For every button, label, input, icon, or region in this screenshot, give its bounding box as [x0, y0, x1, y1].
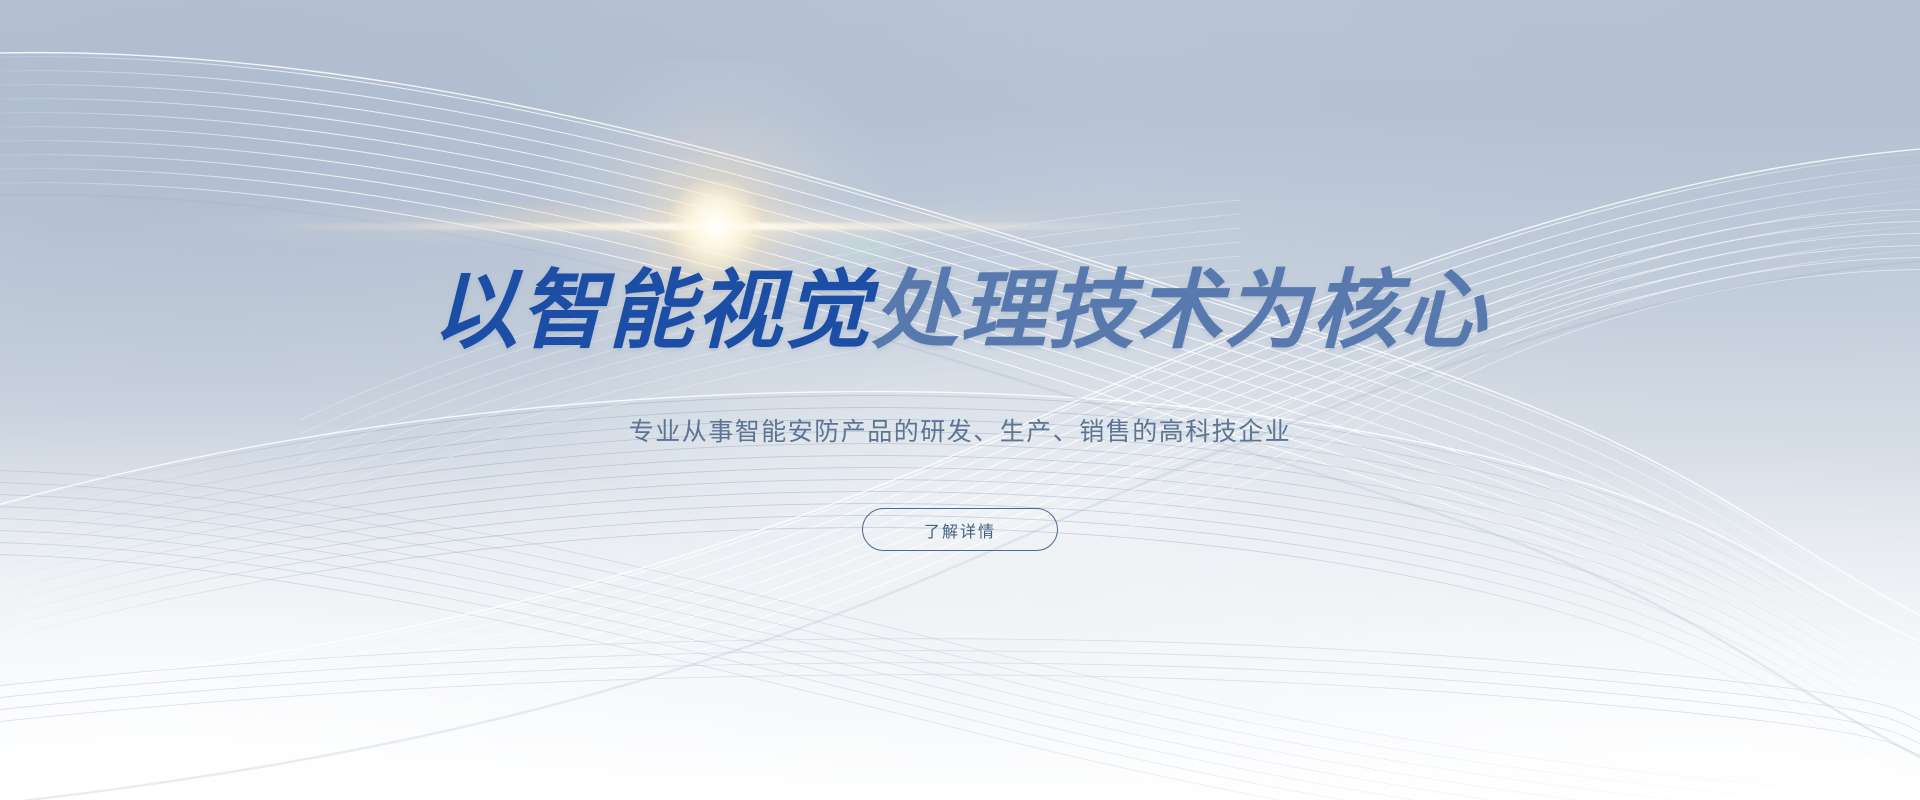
- page-subtitle: 专业从事智能安防产品的研发、生产、销售的高科技企业: [629, 412, 1292, 448]
- hero-banner: 以智能视觉处理技术为核心 专业从事智能安防产品的研发、生产、销售的高科技企业 了…: [0, 0, 1920, 800]
- page-title: 以智能视觉处理技术为核心: [432, 268, 1488, 356]
- headline-segment-secondary: 处理技术为核心: [872, 261, 1488, 361]
- headline-segment-primary: 以智能视觉: [432, 261, 872, 361]
- hero-content: 以智能视觉处理技术为核心 专业从事智能安防产品的研发、生产、销售的高科技企业 了…: [0, 0, 1920, 800]
- learn-more-button[interactable]: 了解详情: [862, 508, 1058, 551]
